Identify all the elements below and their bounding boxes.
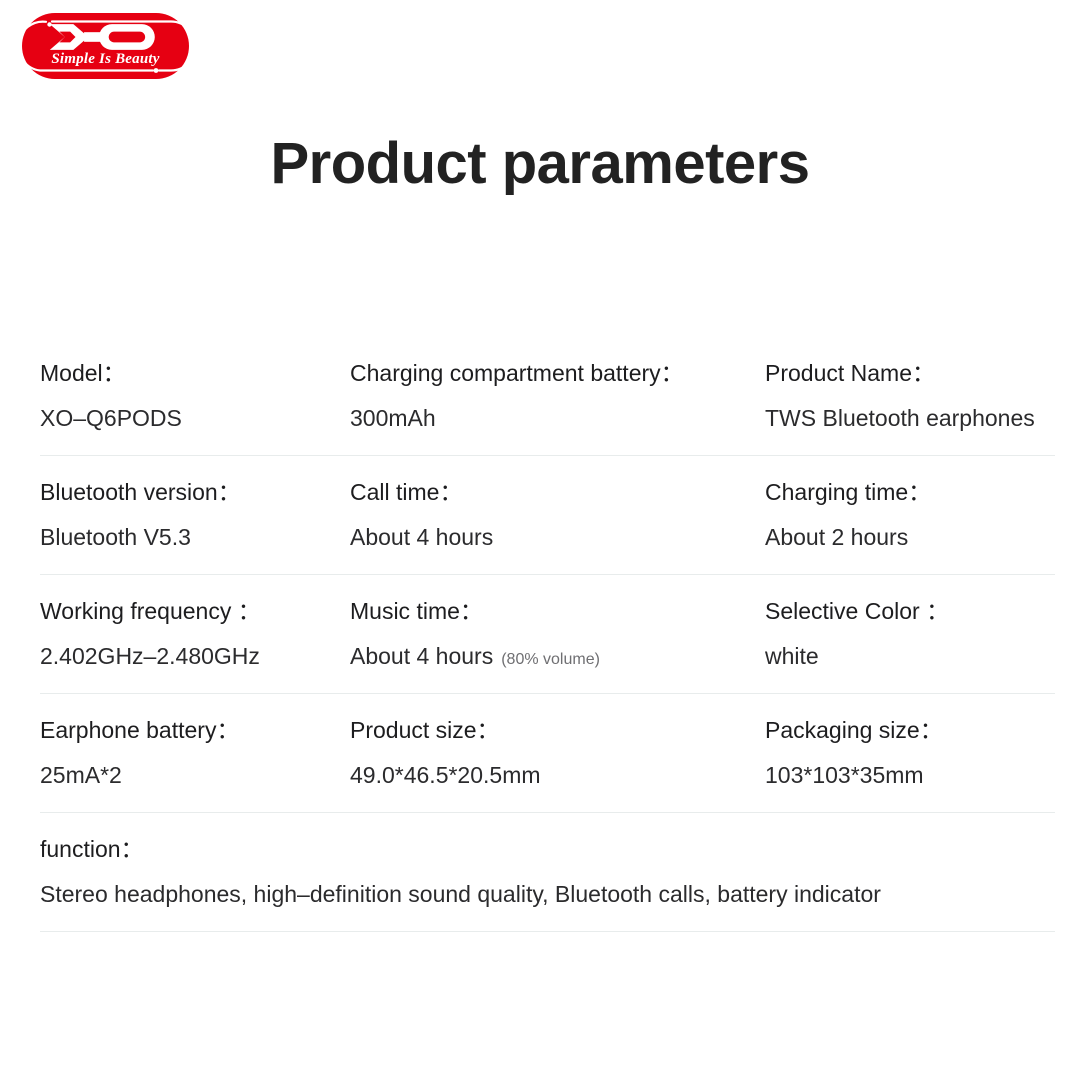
function-row: function： Stereo headphones, high–defini… [40,813,1055,932]
brand-logo: Simple Is Beauty [22,13,189,79]
function-label: function： [40,834,1055,865]
spec-cell: Selective Color ： white [765,596,1055,672]
spec-value: TWS Bluetooth earphones [765,403,1055,434]
logo-tagline: Simple Is Beauty [22,51,189,68]
spec-value: 300mAh [350,403,765,434]
spec-value: 103*103*35mm [765,760,1055,791]
table-row: Working frequency ： 2.402GHz–2.480GHz Mu… [40,575,1055,694]
spec-value-text: About 4 hours [350,643,493,669]
spec-label: Call time： [350,477,765,508]
spec-cell: Call time： About 4 hours [350,477,765,553]
spec-value: white [765,641,1055,672]
table-row: Model： XO–Q6PODS Charging compartment ba… [40,358,1055,456]
spec-value: XO–Q6PODS [40,403,350,434]
spec-value-note: (80% volume) [501,651,600,668]
spec-label: Earphone battery： [40,715,350,746]
spec-cell: Product size： 49.0*46.5*20.5mm [350,715,765,791]
spec-value: 2.402GHz–2.480GHz [40,641,350,672]
spec-cell: Bluetooth version： Bluetooth V5.3 [40,477,350,553]
spec-cell: Packaging size： 103*103*35mm [765,715,1055,791]
spec-label: Charging compartment battery： [350,358,765,389]
spec-label: Music time： [350,596,765,627]
spec-cell: Product Name： TWS Bluetooth earphones [765,358,1055,434]
page-title: Product parameters [0,132,1080,196]
table-row: Bluetooth version： Bluetooth V5.3 Call t… [40,456,1055,575]
spec-value: About 2 hours [765,522,1055,553]
spec-label: Product Name： [765,358,1055,389]
logo-dot-bottom-right [154,68,159,73]
spec-label: Product size： [350,715,765,746]
spec-value: 25mA*2 [40,760,350,791]
function-value: Stereo headphones, high–definition sound… [40,879,1055,910]
spec-cell: Working frequency ： 2.402GHz–2.480GHz [40,596,350,672]
spec-cell: Model： XO–Q6PODS [40,358,350,434]
table-row: Earphone battery： 25mA*2 Product size： 4… [40,694,1055,813]
spec-value: About 4 hours [350,522,765,553]
spec-label: Packaging size： [765,715,1055,746]
spec-cell: Earphone battery： 25mA*2 [40,715,350,791]
spec-label: Working frequency ： [40,596,350,627]
logo-xo-wordmark [22,22,189,52]
spec-label: Model： [40,358,350,389]
spec-value: Bluetooth V5.3 [40,522,350,553]
spec-label: Bluetooth version： [40,477,350,508]
spec-table: Model： XO–Q6PODS Charging compartment ba… [40,358,1055,932]
spec-cell: Charging time： About 2 hours [765,477,1055,553]
spec-label: Selective Color ： [765,596,1055,627]
spec-cell: Music time： About 4 hours(80% volume) [350,596,765,672]
spec-value: About 4 hours(80% volume) [350,641,765,672]
spec-label: Charging time： [765,477,1055,508]
spec-cell: Charging compartment battery： 300mAh [350,358,765,434]
spec-value: 49.0*46.5*20.5mm [350,760,765,791]
